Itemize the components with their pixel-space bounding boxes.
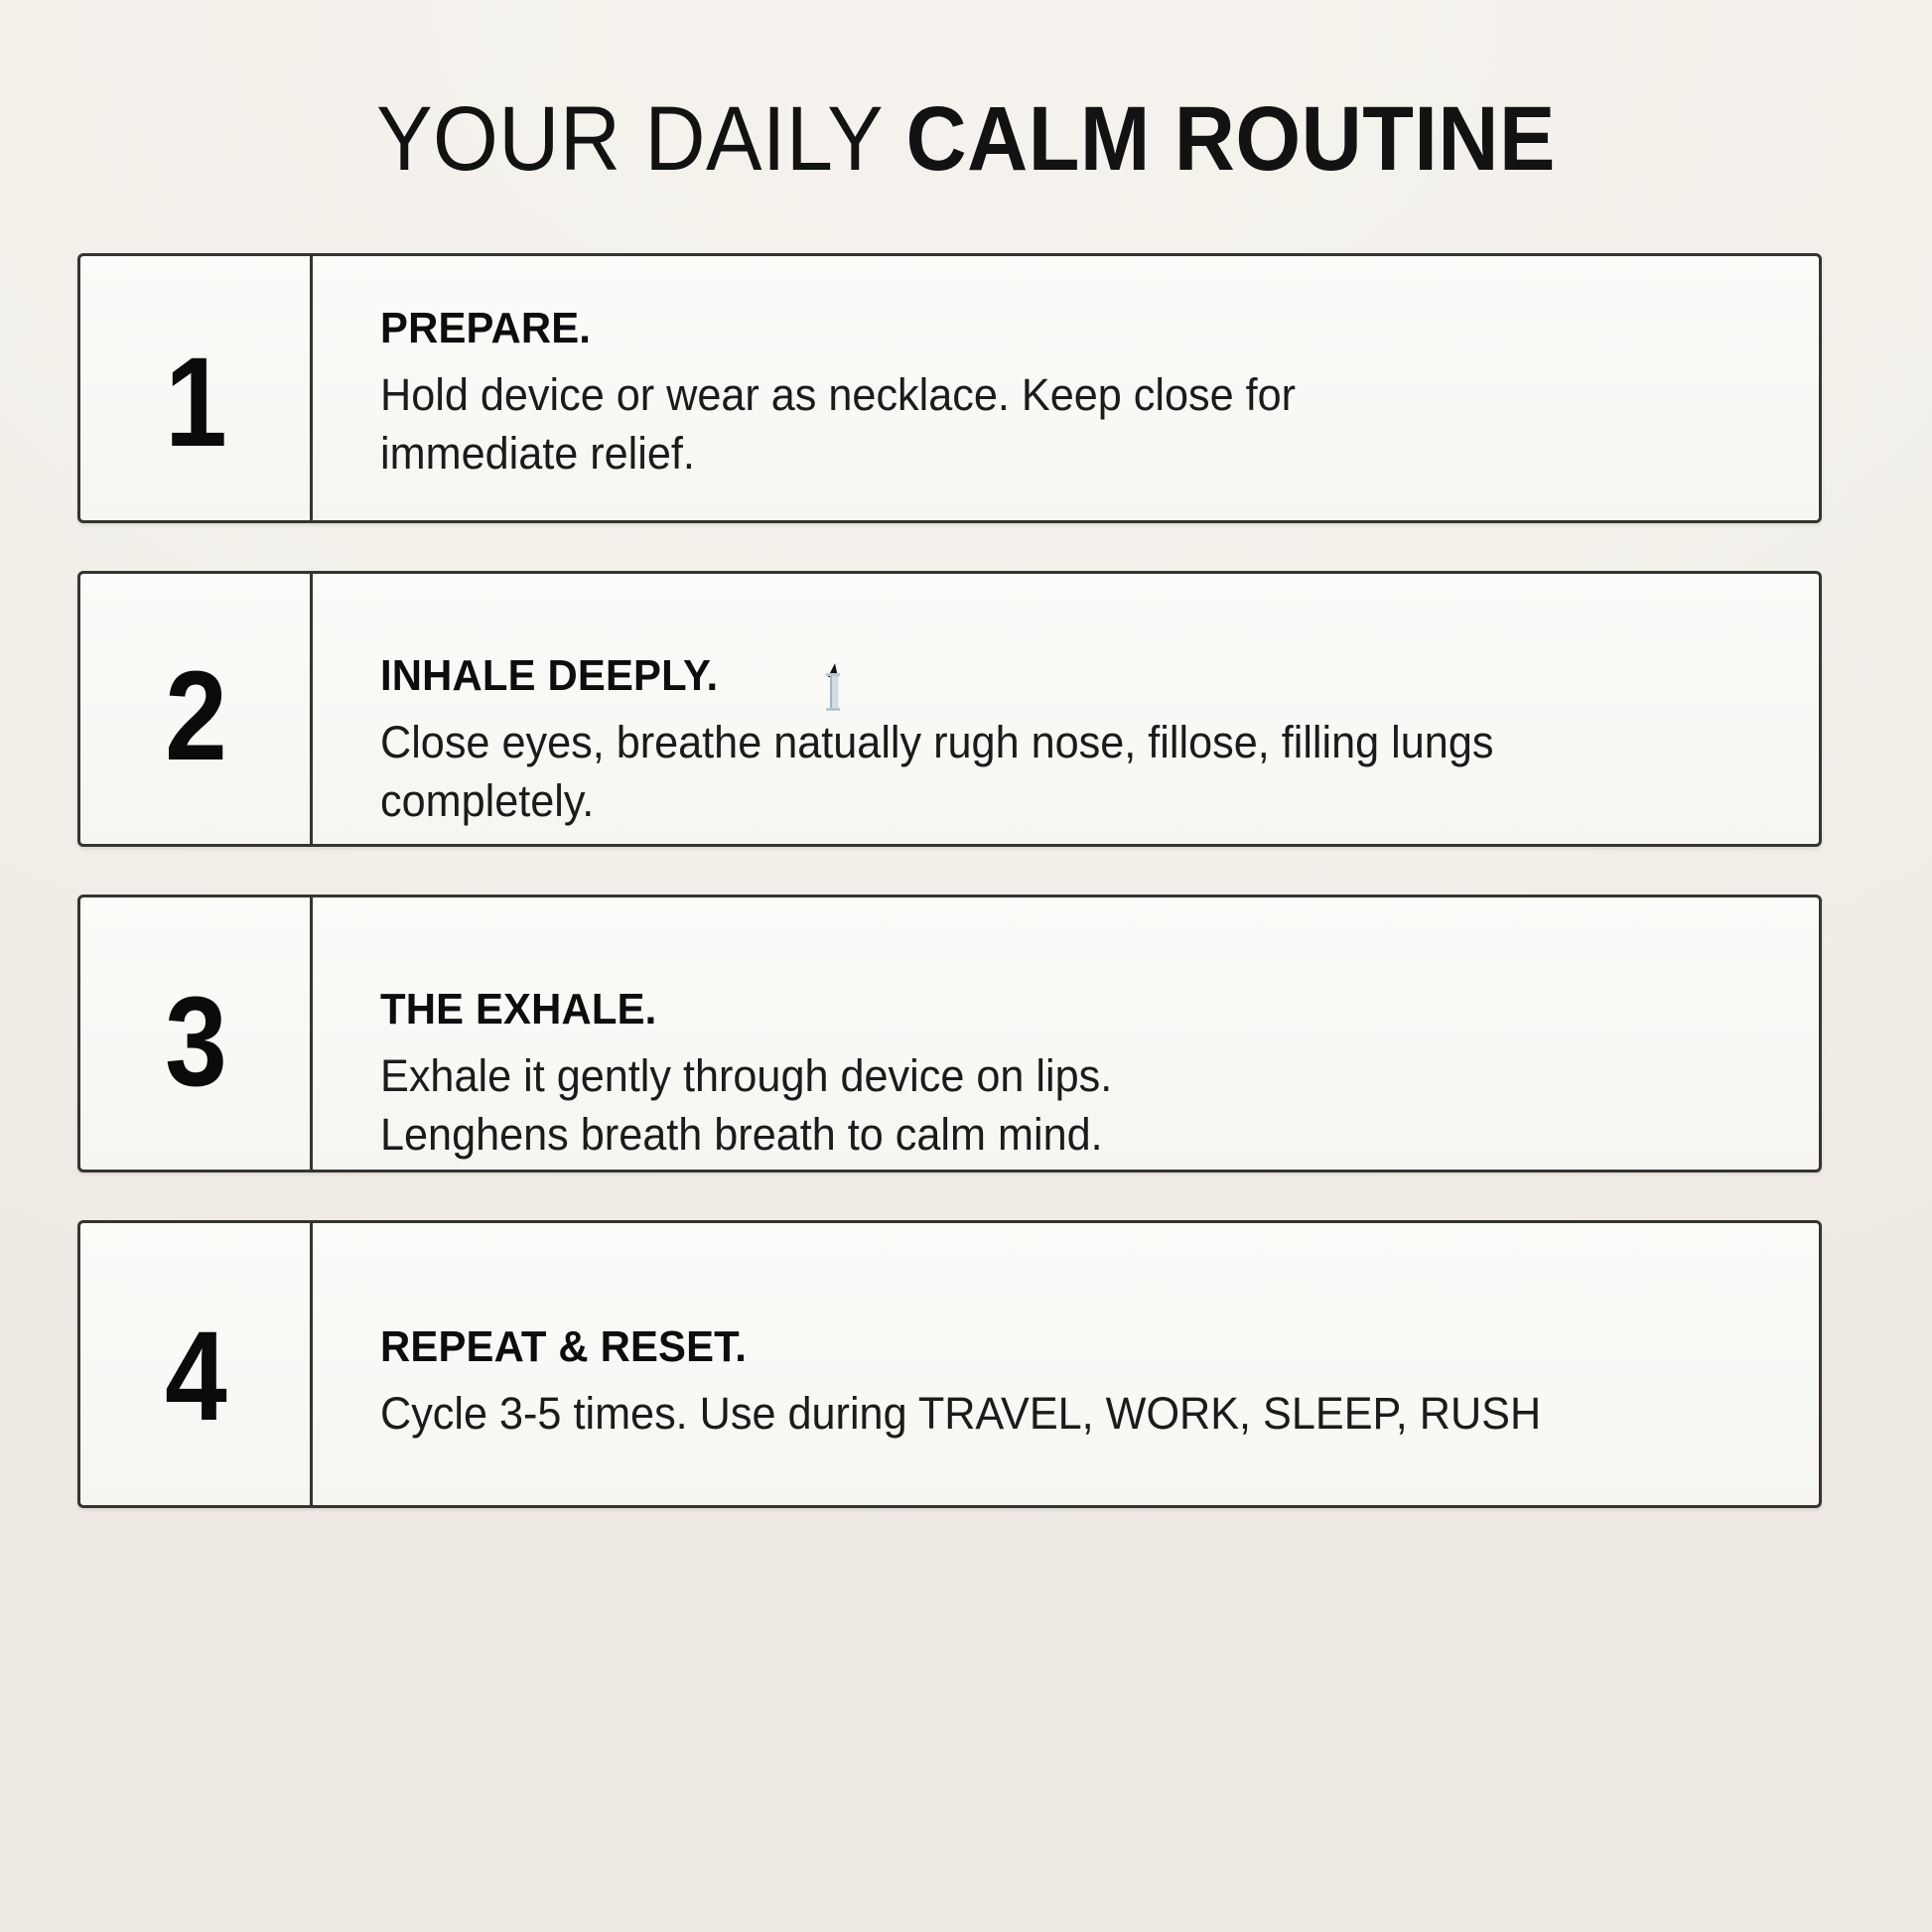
step-body-3: Exhale it gently through device on lips.… <box>380 1046 1728 1165</box>
step-content-4: REPEAT & RESET. Cycle 3-5 times. Use dur… <box>313 1223 1819 1505</box>
step-number-cell-2: 2 <box>80 574 313 844</box>
step-body-line: Exhale it gently through device on lips. <box>380 1046 1728 1105</box>
step-card-2[interactable]: 2 INHALE DEEPLY. Close eyes, breathe nat… <box>77 571 1822 847</box>
page-title-bold: CALM ROUTINE <box>906 88 1556 190</box>
step-number-3: 3 <box>165 979 225 1106</box>
step-card-4[interactable]: 4 REPEAT & RESET. Cycle 3-5 times. Use d… <box>77 1220 1822 1508</box>
step-number-cell-1: 1 <box>80 256 313 520</box>
page-title: YOUR DAILY CALM ROUTINE <box>77 91 1855 188</box>
step-card-1[interactable]: 1 PREPARE. Hold device or wear as neckla… <box>77 253 1822 523</box>
step-content-1: PREPARE. Hold device or wear as necklace… <box>313 256 1819 520</box>
step-body-line: Cycle 3-5 times. Use during TRAVEL, WORK… <box>380 1384 1728 1443</box>
step-heading-3: THE EXHALE. <box>380 985 1715 1035</box>
step-heading-4: REPEAT & RESET. <box>380 1322 1715 1372</box>
step-body-4: Cycle 3-5 times. Use during TRAVEL, WORK… <box>380 1384 1728 1443</box>
step-body-line: immediate relief. <box>380 424 1728 483</box>
steps-list: 1 PREPARE. Hold device or wear as neckla… <box>77 253 1822 1508</box>
page-title-light: YOUR DAILY <box>376 88 905 190</box>
step-number-2: 2 <box>165 653 225 780</box>
step-body-line: completely. <box>380 771 1728 830</box>
step-body-line: Lenghens breath breath to calm mind. <box>380 1105 1728 1164</box>
step-body-1: Hold device or wear as necklace. Keep cl… <box>380 365 1728 483</box>
step-number-1: 1 <box>165 340 225 467</box>
step-content-3: THE EXHALE. Exhale it gently through dev… <box>313 897 1819 1170</box>
step-card-3[interactable]: 3 THE EXHALE. Exhale it gently through d… <box>77 895 1822 1173</box>
step-body-line: Hold device or wear as necklace. Keep cl… <box>380 365 1728 424</box>
step-heading-1: PREPARE. <box>380 304 1715 353</box>
step-number-4: 4 <box>165 1313 225 1441</box>
step-number-cell-4: 4 <box>80 1223 313 1505</box>
step-body-line: Close eyes, breathe natually rugh nose, … <box>380 713 1728 771</box>
step-number-cell-3: 3 <box>80 897 313 1170</box>
step-body-2: Close eyes, breathe natually rugh nose, … <box>380 713 1728 831</box>
step-content-2: INHALE DEEPLY. Close eyes, breathe natua… <box>313 574 1819 844</box>
step-heading-2: INHALE DEEPLY. <box>380 651 1715 701</box>
